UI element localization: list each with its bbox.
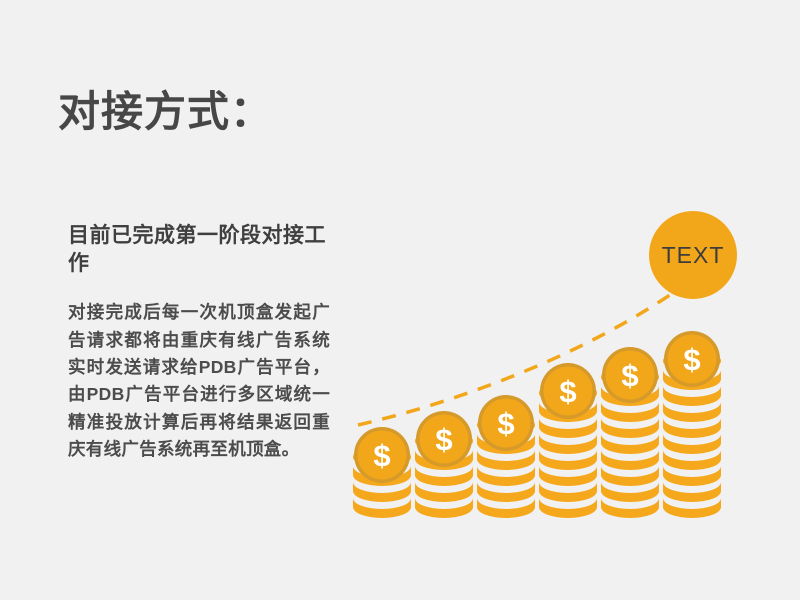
growth-graphic: $ TEXT [330,190,780,550]
subtitle-heading: 目前已完成第一阶段对接工作 [68,222,330,277]
coin-stack-3 [477,395,535,518]
coin-stack-4 [539,363,597,518]
text-balloon[interactable]: TEXT [649,211,737,299]
page-title: 对接方式： [58,88,273,136]
coin-stack-6 [663,331,721,518]
body-paragraph: 对接完成后每一次机顶盒发起广告请求都将由重庆有线广告系统实时发送请求给PDB广告… [68,299,330,463]
slide-canvas: 对接方式： 目前已完成第一阶段对接工作 对接完成后每一次机顶盒发起广告请求都将由… [0,0,800,600]
coin-stack-5 [601,347,659,518]
text-block: 目前已完成第一阶段对接工作 对接完成后每一次机顶盒发起广告请求都将由重庆有线广告… [68,222,330,463]
balloon-label: TEXT [662,242,725,268]
coin-stack-1 [353,427,411,518]
coin-stack-2 [415,411,473,518]
